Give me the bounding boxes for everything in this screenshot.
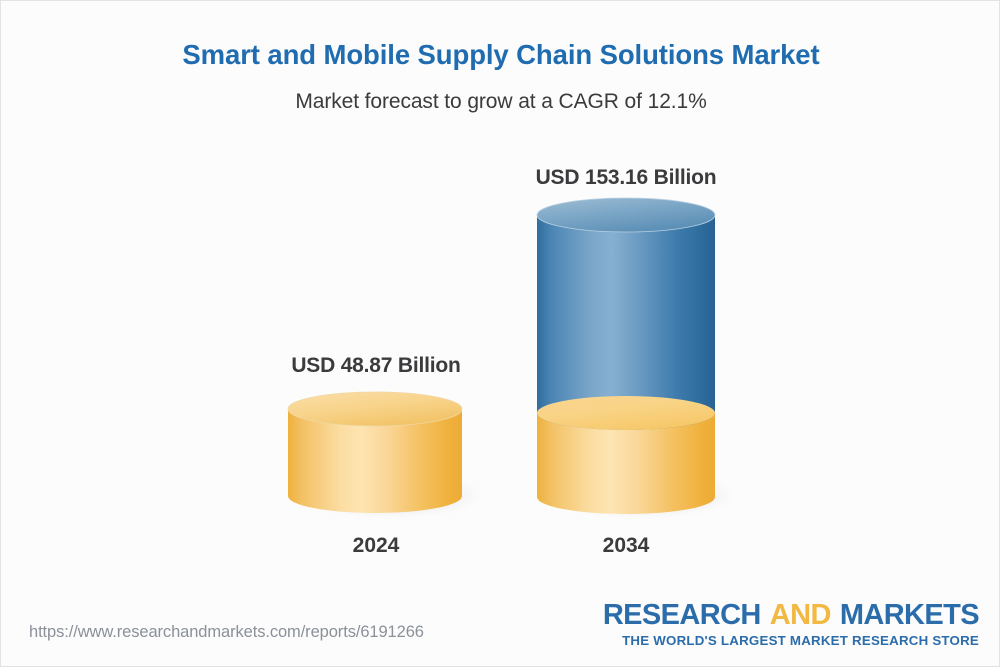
chart-plot-area: USD 153.16 Billion xyxy=(1,1,1000,591)
category-label-2034: 2034 xyxy=(456,534,796,558)
bar-2024 xyxy=(288,395,462,516)
brand-word-research: RESEARCH xyxy=(603,599,761,631)
bar-2034 xyxy=(537,201,715,516)
brand-word-markets: MARKETS xyxy=(840,599,979,631)
brand-logo[interactable]: RESEARCHANDMARKETS THE WORLD'S LARGEST M… xyxy=(603,601,979,648)
source-url[interactable]: https://www.researchandmarkets.com/repor… xyxy=(29,623,424,642)
chart-page: Smart and Mobile Supply Chain Solutions … xyxy=(0,0,1000,667)
bar-2024-cylinder-graphic xyxy=(288,395,462,519)
bar-2034-cylinder-graphic xyxy=(537,201,715,519)
value-label-2034: USD 153.16 Billion xyxy=(456,166,796,190)
value-label-2024: USD 48.87 Billion xyxy=(206,354,546,378)
brand-wordmark: RESEARCHANDMARKETS xyxy=(603,601,979,630)
brand-word-and: AND xyxy=(770,599,831,631)
brand-tagline: THE WORLD'S LARGEST MARKET RESEARCH STOR… xyxy=(603,633,979,648)
